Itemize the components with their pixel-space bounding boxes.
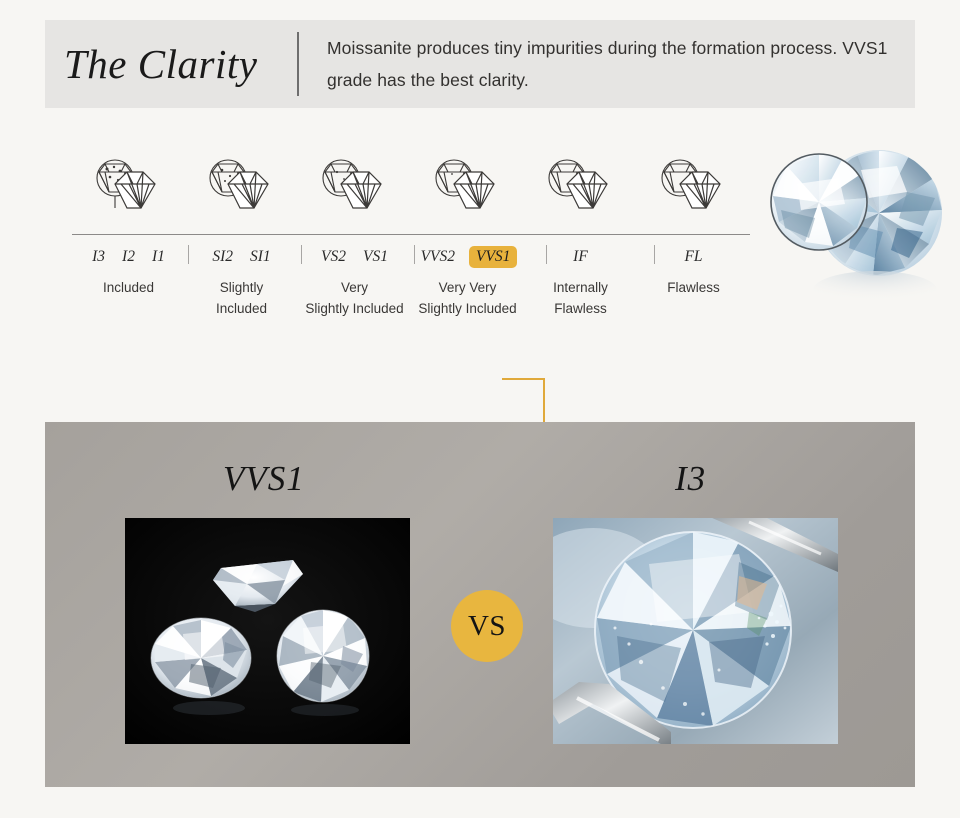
grade-separator xyxy=(414,245,415,264)
grade-codes: I3 I2 I1 xyxy=(89,244,168,270)
header-description: Moissanite produces tiny impurities duri… xyxy=(299,32,889,96)
included-diamond-in-tweezers-photo xyxy=(553,518,838,744)
grade-codes: FL xyxy=(681,244,705,270)
three-clear-diamonds-on-black-photo xyxy=(125,518,410,744)
comparison-photo-right xyxy=(553,518,838,744)
grade-separator xyxy=(301,245,302,264)
grade-description: Slightly Included xyxy=(216,277,267,319)
clarity-scale-rule xyxy=(72,234,750,235)
clarity-icon-row xyxy=(72,148,750,226)
grade-separator xyxy=(654,245,655,264)
clarity-icon-slightly-included xyxy=(185,148,298,226)
grade-code-si1[interactable]: SI1 xyxy=(247,246,274,268)
grade-group-internally-flawless: IF Internally Flawless xyxy=(524,244,637,319)
grade-code-i3[interactable]: I3 xyxy=(89,246,108,268)
diamond-loupe-inclusions-light-icon xyxy=(311,152,399,222)
grade-code-vvs1-selected[interactable]: VVS1 xyxy=(469,246,517,268)
grade-code-fl[interactable]: FL xyxy=(681,246,705,268)
inclusion-dots xyxy=(105,166,121,181)
header-band: The Clarity Moissanite produces tiny imp… xyxy=(45,20,915,108)
grade-codes: VVS2 VVS1 xyxy=(418,244,518,270)
comparison-title-left: VVS1 xyxy=(223,459,305,499)
clarity-grade-row: I3 I2 I1 Included SI2 SI1 Slightly Inclu… xyxy=(72,244,750,319)
grade-group-very-very-slightly-included: VVS2 VVS1 Very Very Slightly Included xyxy=(411,244,524,319)
grade-group-included: I3 I2 I1 Included xyxy=(72,244,185,319)
diamond-loupe-inclusions-faint-icon xyxy=(424,152,512,222)
diamond-with-magnifier-photo xyxy=(757,140,955,315)
grade-description: Internally Flawless xyxy=(553,277,608,319)
grade-codes: VS2 VS1 xyxy=(318,244,391,270)
clarity-icon-included xyxy=(72,148,185,226)
diamond-loupe-flawless-icon xyxy=(650,152,738,222)
comparison-title-right: I3 xyxy=(675,459,706,499)
grade-separator xyxy=(188,245,189,264)
diamond-loupe-internally-flawless-icon xyxy=(537,152,625,222)
clarity-icon-internally-flawless xyxy=(524,148,637,226)
grade-group-slightly-included: SI2 SI1 Slightly Included xyxy=(185,244,298,319)
page-title: The Clarity xyxy=(45,40,297,88)
diamond-loupe-inclusions-heavy-icon xyxy=(85,152,173,222)
grade-codes: SI2 SI1 xyxy=(209,244,273,270)
grade-code-si2[interactable]: SI2 xyxy=(209,246,236,268)
hero-diamond-photo xyxy=(757,140,955,315)
grade-description: Very Very Slightly Included xyxy=(418,277,516,319)
grade-separator xyxy=(546,245,547,264)
comparison-photo-left xyxy=(125,518,410,744)
grade-code-vs2[interactable]: VS2 xyxy=(318,246,349,268)
grade-description: Very Slightly Included xyxy=(305,277,403,319)
grade-code-i1[interactable]: I1 xyxy=(149,246,168,268)
comparison-panel: VVS1 I3 xyxy=(45,422,915,787)
clarity-infographic-page: The Clarity Moissanite produces tiny imp… xyxy=(0,0,960,818)
clarity-icon-very-slightly-included xyxy=(298,148,411,226)
grade-code-vvs2[interactable]: VVS2 xyxy=(418,246,458,268)
grade-codes: IF xyxy=(570,244,591,270)
grade-code-if[interactable]: IF xyxy=(570,246,591,268)
grade-code-i2[interactable]: I2 xyxy=(119,246,138,268)
clarity-icon-very-very-slightly-included xyxy=(411,148,524,226)
diamond-loupe-inclusions-medium-icon xyxy=(198,152,286,222)
inclusion-dots xyxy=(451,173,453,175)
grade-code-vs1[interactable]: VS1 xyxy=(360,246,391,268)
grade-group-very-slightly-included: VS2 VS1 Very Slightly Included xyxy=(298,244,411,319)
vs-badge: VS xyxy=(451,590,523,662)
grade-description: Included xyxy=(103,277,154,298)
clarity-icon-flawless xyxy=(637,148,750,226)
grade-description: Flawless xyxy=(667,277,720,298)
inclusion-dots xyxy=(220,169,230,182)
